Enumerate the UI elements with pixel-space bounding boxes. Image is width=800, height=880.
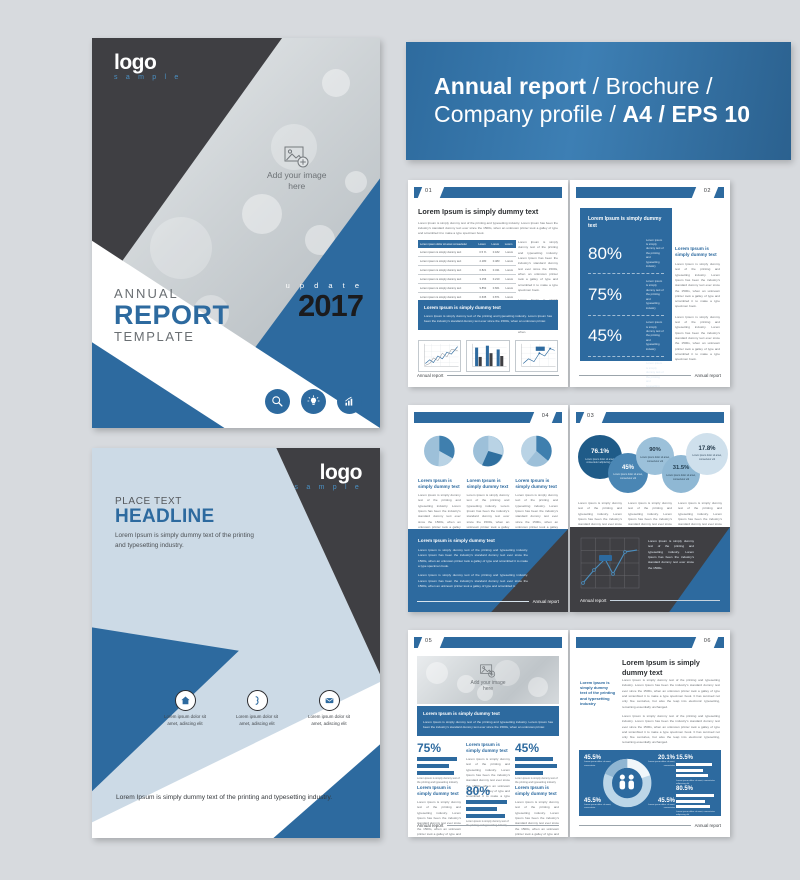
- page-number: 04: [542, 413, 549, 419]
- footer-label: Annual report: [533, 599, 559, 604]
- phone-icon: [247, 690, 268, 711]
- people-icon: [620, 775, 634, 790]
- callout-title: Lorem Ipsum is simply dummy text: [424, 305, 552, 311]
- banner-line-1: Annual report / Brochure /: [434, 72, 750, 100]
- bar-value: 15.5%: [676, 755, 716, 761]
- pie-title: Lorem Ipsum is simply dummy text: [515, 478, 558, 490]
- text-block: Lorem Ipsum is simply dummy text Lorem i…: [417, 785, 461, 837]
- cover-logo[interactable]: logo s a m p l e: [114, 52, 182, 81]
- bar-block-1: 15.5% Lorem ipsum dolor sit amet, consec…: [676, 755, 716, 787]
- bubble-value: 45%: [622, 465, 634, 471]
- contact-caption: Lorem ipsum dolor sit amet, adiscing eli…: [230, 714, 284, 727]
- page-title: Lorem Ipsum is simply dummy text: [418, 207, 558, 217]
- text-block: Lorem Ipsum is simply dummy text Lorem i…: [515, 785, 559, 837]
- bar-group: [515, 757, 559, 775]
- dark-section: Lorem Ipsum is simply dummy text Lorem I…: [408, 529, 568, 612]
- page-header-bar: 01: [408, 187, 568, 198]
- banner-line-2: Company profile / A4 / EPS 10: [434, 100, 750, 128]
- bar-group: [466, 800, 510, 818]
- footer-label: Annual report: [695, 823, 721, 828]
- table-cell: Lorem ipsum is simply dummy text: [418, 266, 476, 275]
- bar-group: [676, 794, 716, 808]
- logo-text: logo: [295, 462, 363, 483]
- footer-rule: [610, 600, 720, 601]
- chart-row: [418, 340, 558, 372]
- table-cell: Lorem: [503, 248, 516, 257]
- side-column: Lorem Ipsum is simply dummy text Lorem I…: [675, 246, 720, 363]
- add-image-line2: here: [483, 686, 493, 692]
- page-header-bar: 04: [408, 412, 568, 423]
- page-footer: Annual report: [580, 597, 720, 604]
- bubble-value: 31.5%: [673, 466, 689, 472]
- contact-item-phone[interactable]: Lorem ipsum dolor sit amet, adiscing eli…: [230, 690, 284, 727]
- table-col-header: Lorem ipsum dolor sit amet consectetur: [418, 240, 476, 248]
- stat-value: 80%: [588, 245, 640, 262]
- stat-row: 75%Lorem ipsum is simply dummy text of t…: [588, 274, 664, 315]
- stat-value: 45%: [515, 742, 559, 754]
- table-row: Lorem ipsum is simply dummy text2.1800.4…: [418, 257, 516, 266]
- cover-add-image-placeholder[interactable]: Add your image here: [242, 146, 352, 191]
- callout-body: Lorem Ipsum is simply dummy text of the …: [423, 720, 553, 731]
- back-footer-text: Lorem Ipsum is simply dummy text of the …: [116, 793, 332, 804]
- donut-label-tl: 45.5% Lorem ipsum dolor sit amet, consec…: [584, 755, 618, 768]
- line-chart[interactable]: [580, 537, 640, 589]
- table-cell: Lorem ipsum is simply dummy text: [418, 284, 476, 293]
- page-footer: Annual report: [579, 822, 721, 829]
- stat-list: 80%Lorem ipsum is simply dummy text of t…: [588, 233, 664, 387]
- thumb-page-03[interactable]: 03 76.1% Lorem ipsum dolor sit amet, con…: [570, 405, 730, 612]
- bar-caption: Lorem ipsum dolor sit amet, consectetur …: [676, 811, 716, 818]
- side-paragraph: Lorem Ipsum is simply dummy text of the …: [675, 315, 720, 363]
- page-footer: Annual report: [579, 372, 721, 379]
- page-header-bar: 03: [570, 412, 730, 423]
- thumb-page-05[interactable]: 05 Add your image here: [408, 630, 568, 837]
- thumb-page-04[interactable]: 04 Lorem Ipsum is simply dummy text Lore…: [408, 405, 568, 612]
- table-col-header: Lorem: [476, 240, 489, 248]
- table-cell: 3.156: [476, 275, 489, 284]
- banner-line1-bold: Annual report: [434, 73, 586, 99]
- bar-value: 80.5%: [676, 786, 716, 792]
- line-chart-marker[interactable]: [515, 340, 558, 372]
- page-footer: Annual report: [417, 822, 559, 829]
- side-paragraph: Lorem Ipsum is simply dummy text of the …: [518, 240, 558, 293]
- banner-text: Annual report / Brochure / Company profi…: [434, 72, 750, 128]
- page-header-bar: 05: [408, 637, 568, 648]
- home-icon: [175, 690, 196, 711]
- pie-chart: [467, 433, 510, 469]
- pie-block[interactable]: Lorem Ipsum is simply dummy text Lorem i…: [467, 433, 510, 541]
- bubble-caption: Lorem ipsum dolor sit amet, consectetur …: [686, 454, 728, 461]
- contact-item-home[interactable]: Lorem ipsum dolor sit amet, adiscing eli…: [158, 690, 212, 727]
- banner-line2-bold: A4 / EPS 10: [622, 101, 750, 127]
- table-header-row: Lorem ipsum dolor sit amet consectetur L…: [418, 240, 516, 248]
- table-cell: 0.431: [489, 266, 502, 275]
- bar-group: [676, 763, 716, 777]
- lightbulb-icon[interactable]: [301, 389, 326, 414]
- pie-title: Lorem Ipsum is simply dummy text: [418, 478, 461, 490]
- bubble-caption: Lorem ipsum dolor sit amet, consectetur …: [662, 474, 700, 481]
- contact-caption: Lorem ipsum dolor sit amet, adiscing eli…: [302, 714, 356, 727]
- logo-subtext: s a m p l e: [114, 74, 182, 81]
- banner-line1-rest: / Brochure /: [586, 73, 713, 99]
- stat-row: 45%Lorem ipsum is simply dummy text of t…: [588, 316, 664, 357]
- infographic-panel: 45.5% Lorem ipsum dolor sit amet, consec…: [579, 750, 721, 816]
- stat-value: 80%: [466, 785, 510, 797]
- table-cell: Lorem: [503, 257, 516, 266]
- stat-value: 45%: [588, 327, 640, 344]
- stat-caption: Lorem ipsum is simply dummy text of the …: [646, 320, 664, 351]
- page-footer: Annual report: [417, 372, 559, 379]
- table-cell: Lorem: [503, 266, 516, 275]
- table-cell: Lorem ipsum is simply dummy text: [418, 248, 476, 257]
- side-paragraph: Lorem Ipsum is simply dummy text of the …: [675, 262, 720, 310]
- contact-row: Lorem ipsum dolor sit amet, adiscing eli…: [158, 690, 356, 727]
- pie-block[interactable]: Lorem Ipsum is simply dummy text Lorem i…: [418, 433, 461, 541]
- paragraph: Lorem Ipsum is simply dummy text of the …: [622, 678, 720, 710]
- bubble-chart: 76.1% Lorem ipsum dolor sit amet, consec…: [576, 433, 724, 495]
- contact-item-mail[interactable]: Lorem ipsum dolor sit amet, adiscing eli…: [302, 690, 356, 727]
- bubble-value: 17.8%: [698, 446, 715, 452]
- bar-chart[interactable]: [466, 340, 509, 372]
- footer-label: Annual report: [417, 823, 443, 828]
- table-cell: 0.5 %: [476, 248, 489, 257]
- add-image-line1: Add your image: [267, 170, 327, 180]
- cover-page: logo s a m p l e Add your image here ANN…: [92, 38, 380, 428]
- add-image-line2: here: [288, 181, 305, 191]
- dark-text-block: Lorem Ipsum is simply dummy text Lorem I…: [418, 538, 528, 589]
- add-image-label: Add your image here: [453, 664, 523, 693]
- donut-label-bl: 45.5% Lorem ipsum dolor sit amet, consec…: [584, 798, 618, 811]
- footer-label: Annual report: [580, 598, 606, 603]
- dark-paragraph: Lorem Ipsum is simply dummy text of the …: [418, 548, 528, 569]
- pie-row: Lorem Ipsum is simply dummy text Lorem i…: [418, 433, 558, 541]
- stat-value: 75%: [588, 286, 640, 303]
- block-title: Lorem Ipsum is simply dummy text: [417, 785, 461, 797]
- page-header-bar: 02: [570, 187, 730, 198]
- footer-label: Annual report: [695, 373, 721, 378]
- dark-paragraph: Lorem Ipsum is simply dummy text of the …: [648, 539, 694, 571]
- page-header-bar: 06: [570, 637, 730, 648]
- search-icon[interactable]: [265, 389, 290, 414]
- paragraph: Lorem Ipsum is simply dummy text of the …: [622, 714, 720, 746]
- stat-block[interactable]: 80% Lorem ipsum is simply dummy text of …: [466, 785, 510, 837]
- dark-section: Lorem Ipsum is simply dummy text of the …: [570, 527, 730, 612]
- thumb-page-01[interactable]: 01 Lorem Ipsum is simply dummy text Lore…: [408, 180, 568, 387]
- side-note: Lorem Ipsum is simply dummy text of the …: [580, 680, 616, 706]
- footer-rule: [579, 375, 691, 376]
- pie-block[interactable]: Lorem Ipsum is simply dummy text Lorem i…: [515, 433, 558, 541]
- footer-label: Annual report: [417, 373, 443, 378]
- logo-text: logo: [114, 52, 182, 73]
- pie-chart: [418, 433, 461, 469]
- page-footer: Annual report: [417, 598, 559, 605]
- cover-year-block: u p d a t e 2017: [286, 281, 363, 321]
- contact-caption: Lorem ipsum dolor sit amet, adiscing eli…: [158, 714, 212, 727]
- table-row: Lorem ipsum is simply dummy text0.5 %0.1…: [418, 248, 516, 257]
- line-chart[interactable]: [418, 340, 461, 372]
- footer-rule: [417, 601, 529, 602]
- logo-subtext: s a m p l e: [295, 484, 363, 491]
- block-title: Lorem Ipsum is simply dummy text: [515, 785, 559, 797]
- table-cell: Lorem ipsum is simply dummy text: [418, 275, 476, 284]
- banner-line2-plain: Company profile /: [434, 101, 622, 127]
- pie-title: Lorem Ipsum is simply dummy text: [467, 478, 510, 490]
- footer-rule: [579, 825, 691, 826]
- body-column: Lorem Ipsum is simply dummy text of the …: [622, 678, 720, 760]
- footer-rule: [447, 825, 559, 826]
- mail-icon: [319, 690, 340, 711]
- donut-caption: Lorem ipsum dolor sit amet, consectetur: [641, 761, 675, 768]
- image-placeholder[interactable]: Add your image here: [417, 656, 559, 704]
- back-headline: HEADLINE: [115, 507, 255, 527]
- table-col-header: Lorem: [503, 240, 516, 248]
- dark-title: Lorem Ipsum is simply dummy text: [418, 538, 528, 544]
- table-row: Lorem ipsum is simply dummy text3.1560.2…: [418, 275, 516, 284]
- back-cover-logo[interactable]: logo s a m p l e: [295, 462, 363, 491]
- stat-panel-title: Lorem Ipsum is simply dummy text: [588, 216, 664, 229]
- table-cell: 9.852: [476, 284, 489, 293]
- side-title: Lorem Ipsum is simply dummy text: [675, 246, 720, 258]
- stat-row: 80%Lorem ipsum is simply dummy text of t…: [588, 233, 664, 274]
- table-cell: 0.821: [476, 266, 489, 275]
- stats-row-2: Lorem Ipsum is simply dummy text Lorem i…: [417, 785, 559, 837]
- table-row: Lorem ipsum is simply dummy text9.8520.6…: [418, 284, 516, 293]
- back-subtext: Lorem Ipsum is simply dummy text of the …: [115, 531, 255, 551]
- cover-title-main: REPORT: [114, 301, 230, 329]
- stat-panel: Lorem Ipsum is simply dummy text 80%Lore…: [580, 208, 672, 361]
- callout-box: Lorem Ipsum is simply dummy text Lorem I…: [418, 300, 558, 330]
- table-cell: 0.483: [489, 257, 502, 266]
- donut-label-tr: 20.1% Lorem ipsum dolor sit amet, consec…: [641, 755, 675, 768]
- donut-caption: Lorem ipsum dolor sit amet, consectetur: [584, 761, 618, 768]
- cover-title-top: ANNUAL: [114, 286, 230, 301]
- add-image-icon: [284, 146, 310, 168]
- donut-caption: Lorem ipsum dolor sit amet, consectetur: [584, 804, 618, 811]
- stat-value: 75%: [417, 742, 461, 754]
- table-cell: 0.210: [489, 275, 502, 284]
- thumb-page-02[interactable]: 02 Lorem Ipsum is simply dummy text 80%L…: [570, 180, 730, 387]
- dark-paragraph: Lorem Ipsum is simply dummy text of the …: [418, 573, 528, 589]
- callout-box: Lorem Ipsum is simply dummy text Lorem I…: [417, 706, 559, 736]
- bar-block-2: 80.5% Lorem ipsum dolor sit amet, consec…: [676, 786, 716, 818]
- bar-group: [417, 757, 461, 775]
- page-number: 05: [425, 638, 432, 644]
- page-title-wrap: Lorem Ipsum is simply dummy text: [622, 658, 720, 677]
- block-title: Lorem Ipsum is simply dummy text: [466, 742, 510, 754]
- back-headline-block: PLACE TEXT HEADLINE Lorem Ipsum is simpl…: [115, 496, 255, 551]
- block-caption: Lorem ipsum is simply dummy text of the …: [417, 800, 461, 837]
- donut-caption: Lorem ipsum dolor sit amet, consectetur: [641, 804, 675, 811]
- table-cell: Lorem: [503, 275, 516, 284]
- callout-title: Lorem Ipsum is simply dummy text: [423, 711, 553, 717]
- poster-stage: logo s a m p l e Add your image here ANN…: [0, 0, 800, 880]
- stat-caption: Lorem ipsum is simply dummy text of the …: [646, 238, 664, 269]
- page-number: 02: [704, 188, 711, 194]
- table-col-header: Lorem: [489, 240, 502, 248]
- pie-chart: [515, 433, 558, 469]
- block-caption: Lorem ipsum is simply dummy text of the …: [515, 800, 559, 837]
- bubble-caption: Lorem ipsum dolor sit amet, consectetur …: [608, 473, 648, 480]
- thumb-page-06[interactable]: 06 Lorem Ipsum is simply dummy text Lore…: [570, 630, 730, 837]
- page-number: 03: [587, 413, 594, 419]
- bar-chart-icon[interactable]: [337, 389, 362, 414]
- table-cell: 2.180: [476, 257, 489, 266]
- page-title: Lorem Ipsum is simply dummy text: [622, 658, 720, 677]
- callout-body: Lorem Ipsum is simply dummy text of the …: [424, 314, 552, 325]
- add-image-icon: [480, 664, 496, 678]
- add-image-line1: Add your image: [470, 680, 505, 686]
- bubble-value: 76.1%: [591, 449, 609, 455]
- title-banner: Annual report / Brochure / Company profi…: [406, 42, 791, 160]
- page-number: 01: [425, 188, 432, 194]
- footer-rule: [447, 375, 559, 376]
- bubble-value: 90%: [649, 448, 661, 454]
- cover-icon-row: [265, 389, 362, 414]
- back-cover-page: logo s a m p l e PLACE TEXT HEADLINE Lor…: [92, 448, 380, 838]
- cover-title-bottom: TEMPLATE: [114, 329, 230, 344]
- bubble-item[interactable]: 17.8% Lorem ipsum dolor sit amet, consec…: [686, 433, 728, 475]
- cover-year: 2017: [286, 290, 363, 321]
- table-cell: 0.182: [489, 248, 502, 257]
- table-cell: Lorem: [503, 284, 516, 293]
- cover-title-block: ANNUAL REPORT TEMPLATE: [114, 286, 230, 344]
- page-number: 06: [704, 638, 711, 644]
- table-cell: 0.661: [489, 284, 502, 293]
- donut-label-br: 45.5% Lorem ipsum dolor sit amet, consec…: [641, 798, 675, 811]
- page-intro: Lorem Ipsum is simply dummy text of the …: [418, 221, 558, 237]
- table-row: Lorem ipsum is simply dummy text0.8210.4…: [418, 266, 516, 275]
- table-cell: Lorem ipsum is simply dummy text: [418, 257, 476, 266]
- stat-caption: Lorem ipsum is simply dummy text of the …: [646, 279, 664, 310]
